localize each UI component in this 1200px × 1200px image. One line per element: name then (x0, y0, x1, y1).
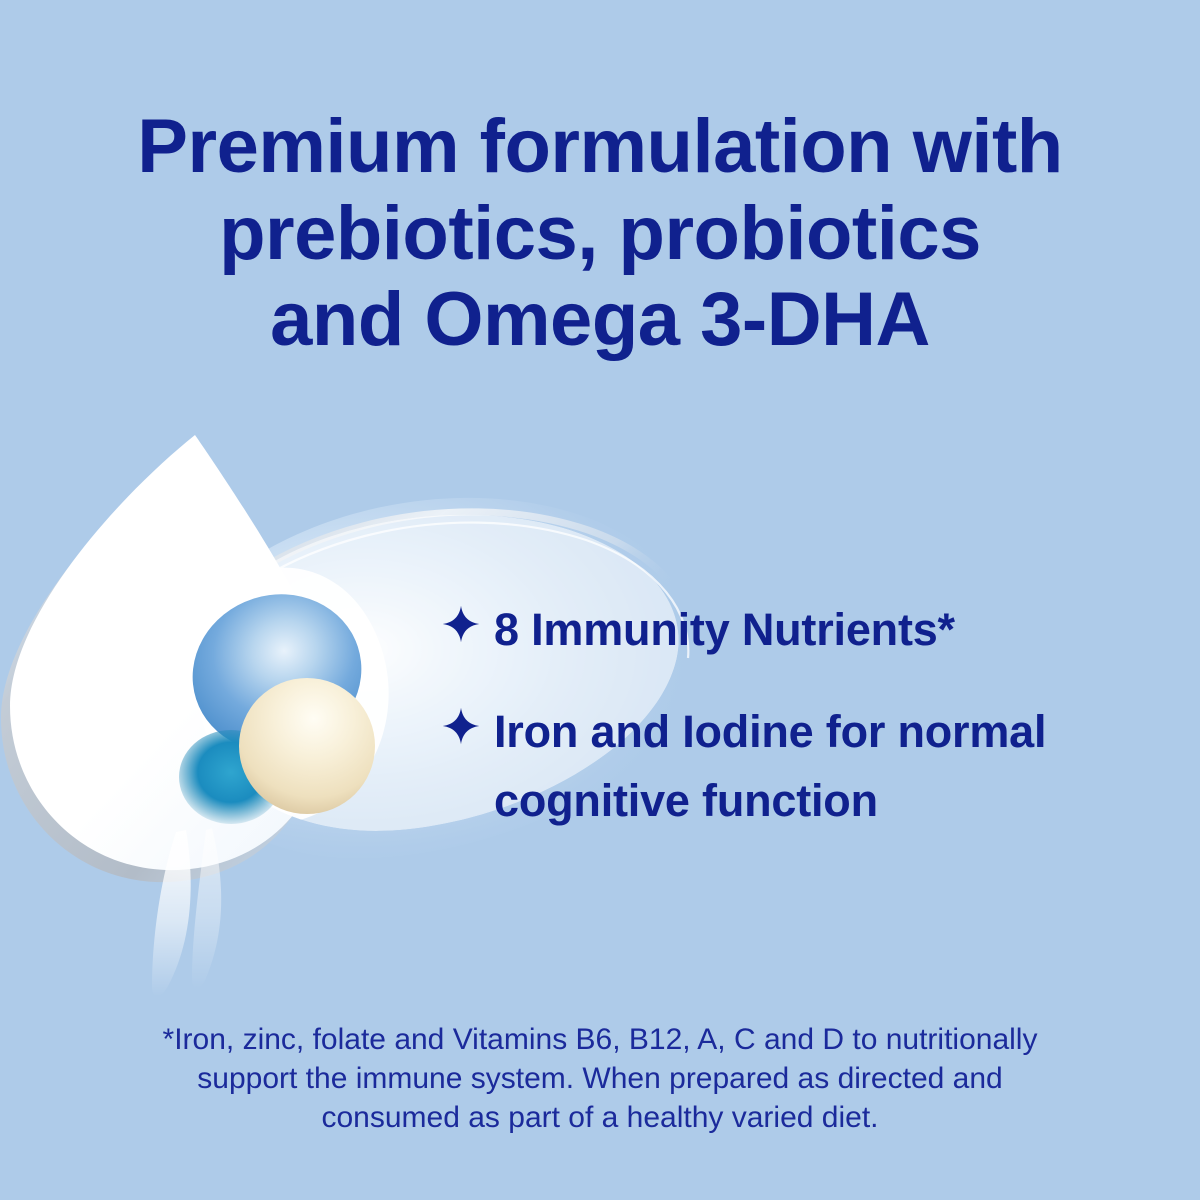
teal-nutrient-dot (179, 730, 283, 824)
feature-bullet-list: 8 Immunity Nutrients* Iron and Iodine fo… (442, 596, 1162, 835)
droplet-tail (152, 828, 221, 997)
footnote-disclaimer: *Iron, zinc, folate and Vitamins B6, B12… (0, 1020, 1200, 1137)
bullet-label: Iron and Iodine for normal cognitive fun… (494, 698, 1094, 835)
page-title: Premium formulation with prebiotics, pro… (0, 104, 1200, 364)
footnote-line-2: support the immune system. When prepared… (0, 1059, 1200, 1098)
droplet-body (10, 435, 329, 870)
footnote-line-3: consumed as part of a healthy varied die… (0, 1098, 1200, 1137)
headline-line-1: Premium formulation with (0, 104, 1200, 191)
headline-line-3: and Omega 3-DHA (0, 277, 1200, 364)
blue-nutrient-sphere (172, 573, 382, 774)
sparkle-diamond-icon (442, 596, 494, 652)
footnote-line-1: *Iron, zinc, folate and Vitamins B6, B12… (0, 1020, 1200, 1059)
sparkle-diamond-icon (442, 698, 494, 754)
promo-panel: Premium formulation with prebiotics, pro… (0, 0, 1200, 1200)
list-item: 8 Immunity Nutrients* (442, 596, 1162, 664)
bullet-label: 8 Immunity Nutrients* (494, 596, 955, 664)
list-item: Iron and Iodine for normal cognitive fun… (442, 698, 1162, 835)
cream-nutrient-sphere (239, 678, 375, 814)
headline-line-2: prebiotics, probiotics (0, 191, 1200, 278)
droplet-rim (1, 447, 320, 882)
